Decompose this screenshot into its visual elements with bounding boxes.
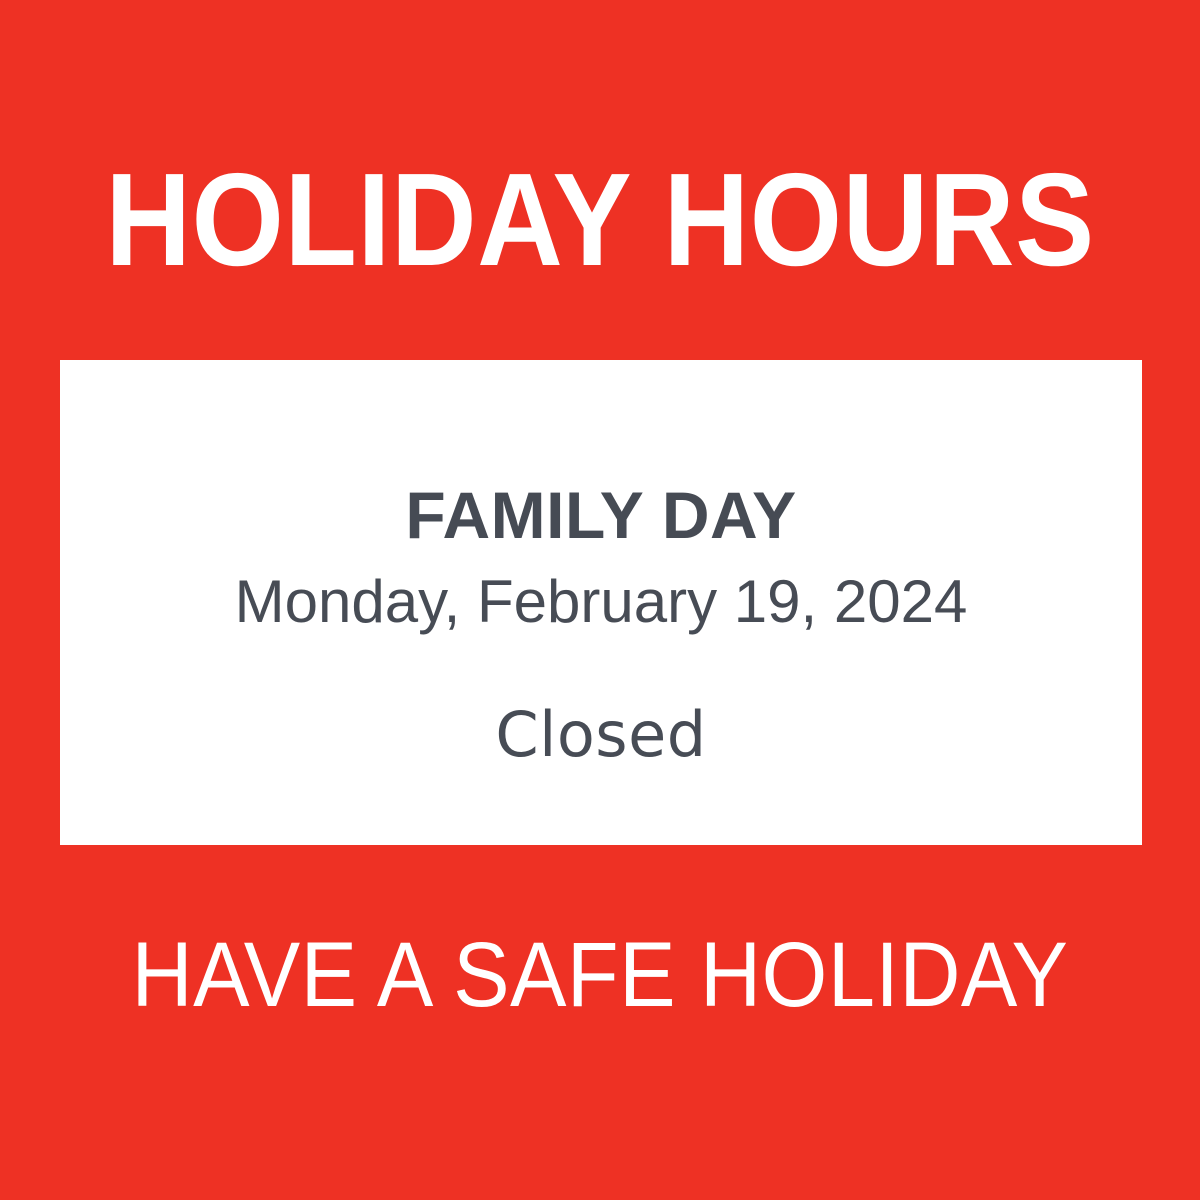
holiday-hours-poster: HOLIDAY HOURS FAMILY DAY Monday, Februar…: [0, 0, 1200, 1200]
holiday-name: FAMILY DAY: [405, 482, 796, 548]
holiday-info-card: FAMILY DAY Monday, February 19, 2024 Clo…: [60, 360, 1142, 845]
hours-status: Closed: [495, 704, 706, 766]
footer-message: HAVE A SAFE HOLIDAY: [48, 915, 1152, 1035]
holiday-date: Monday, February 19, 2024: [235, 572, 968, 632]
page-title: HOLIDAY HOURS: [60, 150, 1140, 290]
